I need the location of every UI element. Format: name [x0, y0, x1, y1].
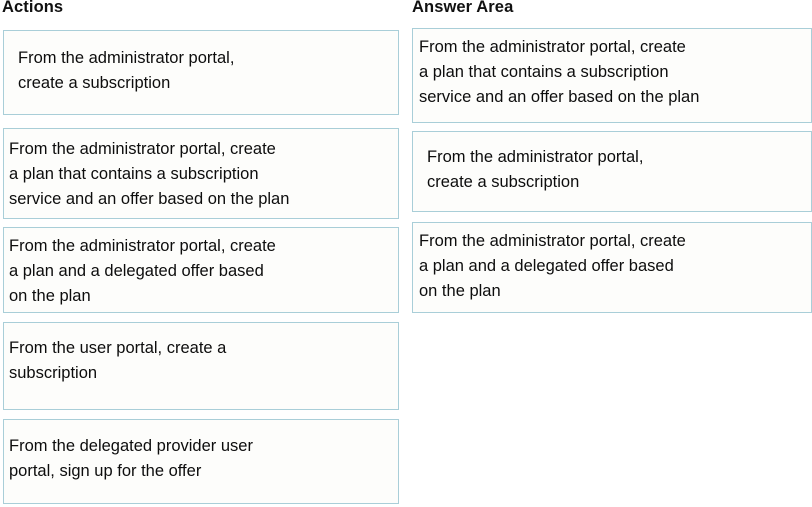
answer-card[interactable]: From the administrator portal, create a … — [412, 28, 812, 123]
action-card-label: From the user portal, create a subscript… — [4, 323, 398, 386]
action-card[interactable]: From the administrator portal, create a … — [3, 30, 399, 115]
action-card-label: From the delegated provider user portal,… — [4, 420, 398, 484]
answer-area-column-heading: Answer Area — [412, 0, 513, 17]
action-card-label: From the administrator portal, create a … — [4, 228, 398, 309]
actions-column: Actions From the administrator portal, c… — [0, 0, 406, 507]
answer-card-label: From the administrator portal, create a … — [413, 29, 811, 110]
action-card[interactable]: From the user portal, create a subscript… — [3, 322, 399, 410]
answer-card[interactable]: From the administrator portal, create a … — [412, 131, 812, 212]
action-card-label: From the administrator portal, create a … — [4, 31, 398, 96]
actions-column-heading: Actions — [2, 0, 63, 17]
answer-card-label: From the administrator portal, create a … — [413, 223, 811, 304]
answer-card-label: From the administrator portal, create a … — [413, 132, 811, 195]
drag-drop-question: Actions From the administrator portal, c… — [0, 0, 812, 507]
action-card[interactable]: From the administrator portal, create a … — [3, 128, 399, 219]
answer-card[interactable]: From the administrator portal, create a … — [412, 222, 812, 313]
action-card[interactable]: From the administrator portal, create a … — [3, 227, 399, 313]
answer-area-column: Answer Area From the administrator porta… — [406, 0, 812, 507]
action-card-label: From the administrator portal, create a … — [4, 129, 398, 212]
action-card[interactable]: From the delegated provider user portal,… — [3, 419, 399, 504]
